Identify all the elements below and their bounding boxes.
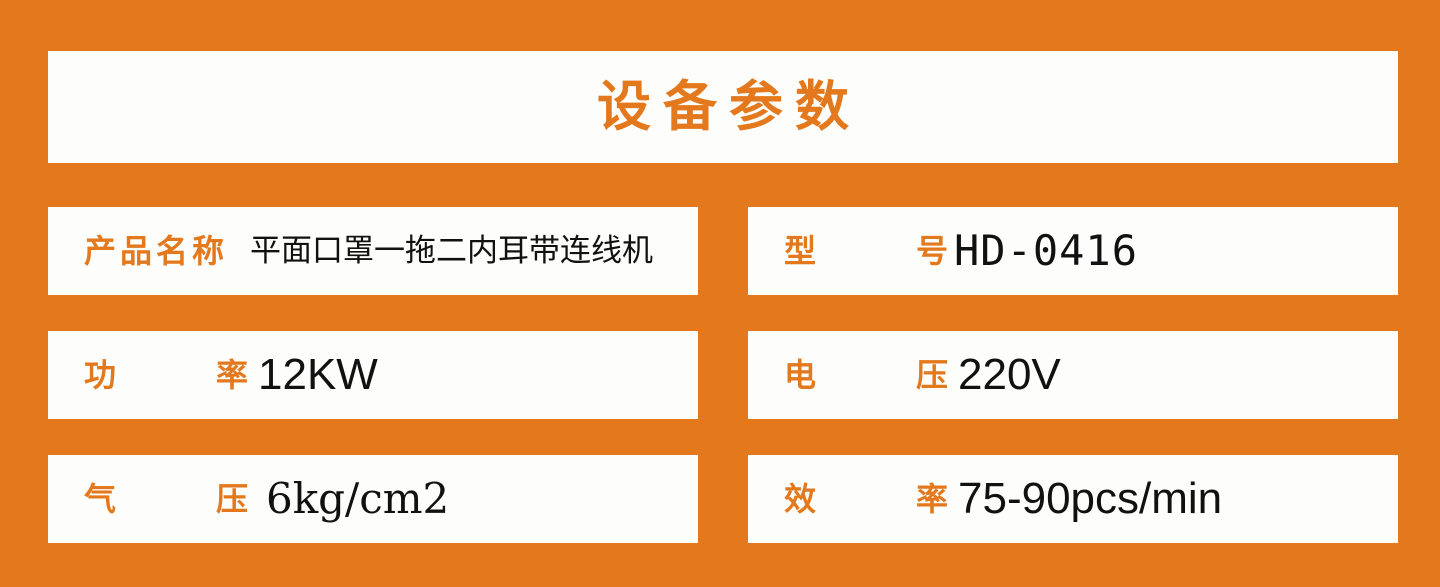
spec-cell-air-pressure: 气压 6kg/cm2 xyxy=(48,455,698,543)
table-row: 气压 6kg/cm2 效率 75-90pcs/min xyxy=(48,455,1398,543)
spec-label-product-name: 产品名称 xyxy=(84,235,244,267)
spec-cell-efficiency: 效率 75-90pcs/min xyxy=(748,455,1398,543)
spec-label-efficiency: 效率 xyxy=(784,483,944,515)
spec-label-voltage: 电压 xyxy=(784,359,944,391)
spec-value-air-pressure: 6kg/cm2 xyxy=(266,478,449,520)
spec-label-model: 型号 xyxy=(784,235,944,267)
equipment-parameters-sheet: 设备参数 产品名称 平面口罩一拖二内耳带连线机 型号 HD-0416 功率 12… xyxy=(0,0,1440,587)
title-banner: 设备参数 xyxy=(48,51,1398,163)
table-row: 产品名称 平面口罩一拖二内耳带连线机 型号 HD-0416 xyxy=(48,207,1398,295)
spec-label-air-pressure: 气压 xyxy=(84,483,244,515)
spec-value-power: 12KW xyxy=(258,353,378,397)
spec-cell-model: 型号 HD-0416 xyxy=(748,207,1398,295)
spec-value-model: HD-0416 xyxy=(954,230,1138,272)
spec-cell-power: 功率 12KW xyxy=(48,331,698,419)
spec-table: 产品名称 平面口罩一拖二内耳带连线机 型号 HD-0416 功率 12KW 电压… xyxy=(48,207,1398,543)
spec-cell-product-name: 产品名称 平面口罩一拖二内耳带连线机 xyxy=(48,207,698,295)
spec-label-power: 功率 xyxy=(84,359,244,391)
page-title: 设备参数 xyxy=(585,80,861,134)
spec-cell-voltage: 电压 220V xyxy=(748,331,1398,419)
spec-value-efficiency: 75-90pcs/min xyxy=(958,477,1222,521)
table-row: 功率 12KW 电压 220V xyxy=(48,331,1398,419)
spec-value-product-name: 平面口罩一拖二内耳带连线机 xyxy=(250,236,653,267)
spec-value-voltage: 220V xyxy=(958,353,1061,397)
